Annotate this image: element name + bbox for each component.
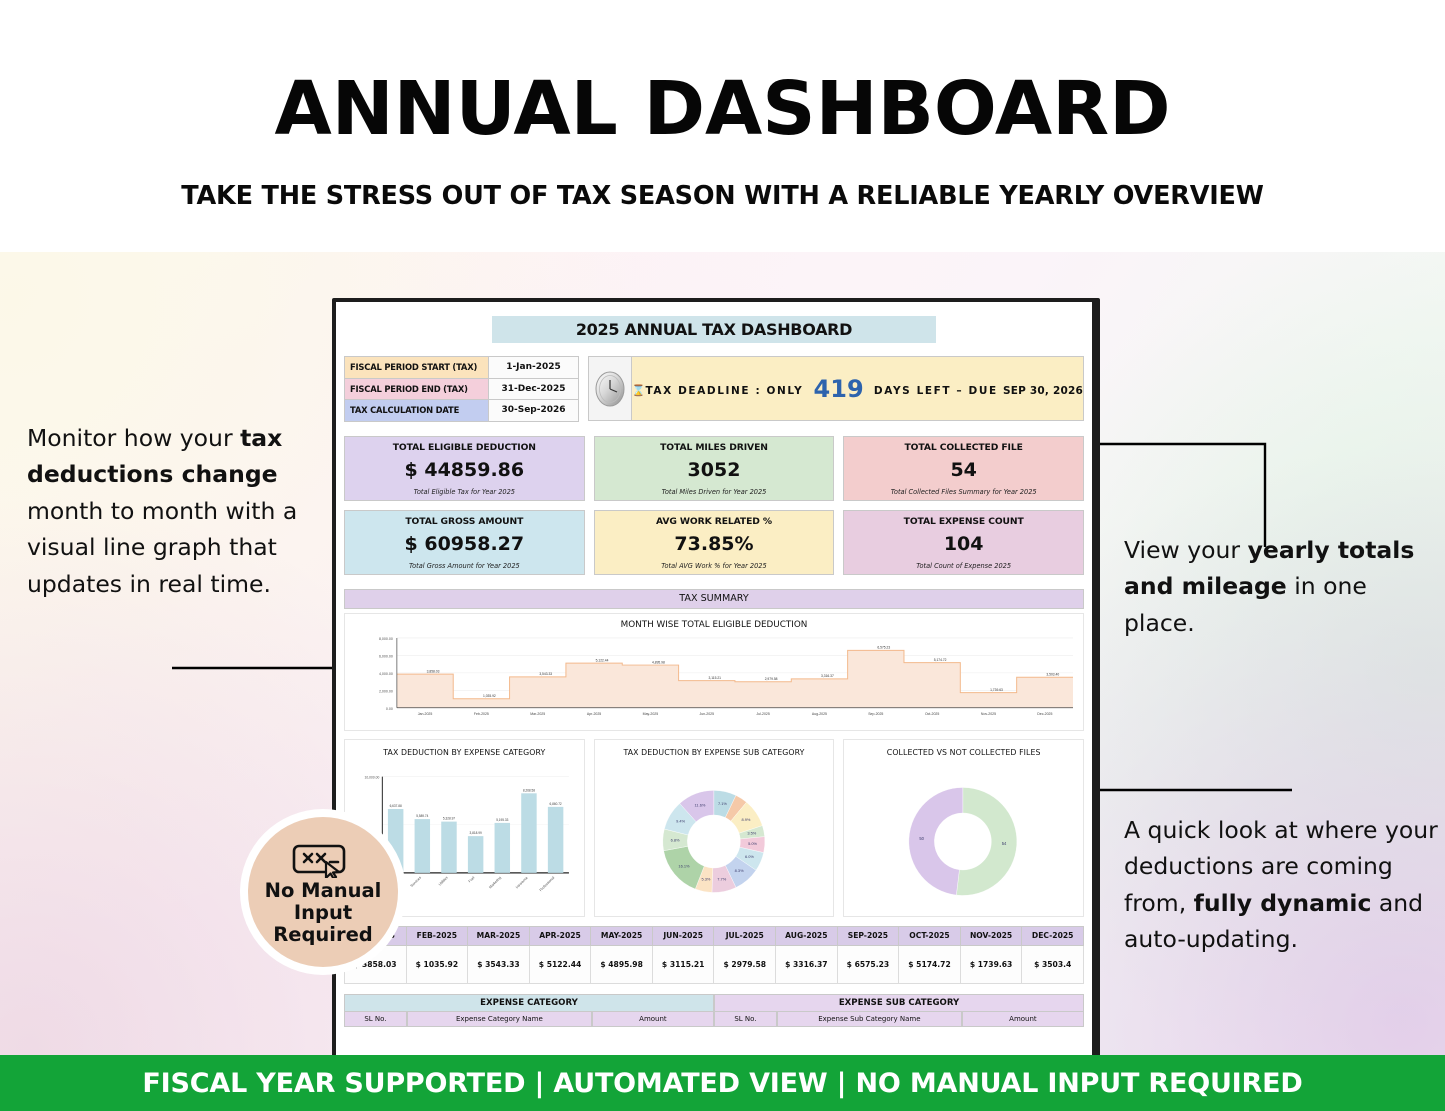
tax-calc-date-label: TAX CALCULATION DATE <box>345 400 489 422</box>
donut-label: 7.7% <box>717 876 726 881</box>
svg-text:6,637.88: 6,637.88 <box>390 804 402 808</box>
svg-text:6,860.72: 6,860.72 <box>550 801 562 805</box>
dashboard-title: 2025 ANNUAL TAX DASHBOARD <box>576 320 852 339</box>
annotation-right-top: View your yearly totals and mileage in o… <box>1124 532 1424 641</box>
svg-text:5,122.44: 5,122.44 <box>596 658 609 662</box>
month-value-10: $ 1739.63 <box>960 945 1022 983</box>
svg-text:10,000.00: 10,000.00 <box>365 775 380 779</box>
svg-text:5,589.74: 5,589.74 <box>416 814 428 818</box>
svg-text:Insurance: Insurance <box>515 875 529 889</box>
svg-text:Mar-2025: Mar-2025 <box>530 711 545 715</box>
col-amount: Amount <box>592 1012 714 1027</box>
deadline-text-cell: ⌛TAX DEADLINE : ONLY 419 DAYS LEFT – DUE… <box>632 356 1084 421</box>
svg-text:6,000.00: 6,000.00 <box>379 654 393 658</box>
svg-text:0.00: 0.00 <box>386 706 393 710</box>
donut-slice-1 <box>909 787 963 895</box>
svg-text:3,543.33: 3,543.33 <box>539 672 552 676</box>
donut-label: 6.0% <box>745 854 754 859</box>
month-value-7: $ 3316.37 <box>776 945 838 983</box>
donut-label: 5.3% <box>701 876 710 881</box>
svg-text:Professional: Professional <box>539 875 556 892</box>
fiscal-period-table: FISCAL PERIOD START (TAX) 1-Jan-2025 FIS… <box>344 356 579 422</box>
svg-text:Fuel: Fuel <box>468 875 476 883</box>
table-header-row: JAN-2025FEB-2025MAR-2025APR-2025MAY-2025… <box>345 926 1084 945</box>
fiscal-deadline-row: FISCAL PERIOD START (TAX) 1-Jan-2025 FIS… <box>344 356 1084 422</box>
svg-text:3,316.37: 3,316.37 <box>821 674 834 678</box>
page-footer: FISCAL YEAR SUPPORTED | AUTOMATED VIEW |… <box>0 1055 1445 1111</box>
kpi-card-total-eligible-deduction: TOTAL ELIGIBLE DEDUCTION $ 44859.86 Tota… <box>344 436 585 501</box>
svg-text:Apr-2025: Apr-2025 <box>587 711 601 715</box>
footer-text: FISCAL YEAR SUPPORTED | AUTOMATED VIEW |… <box>142 1068 1302 1099</box>
kpi-subtitle: Total Miles Driven for Year 2025 <box>662 488 767 496</box>
table-row: FISCAL PERIOD START (TAX) 1-Jan-2025 <box>345 357 579 379</box>
month-header-9: OCT-2025 <box>899 926 961 945</box>
svg-text:3,503.40: 3,503.40 <box>1046 672 1059 676</box>
category-tables: EXPENSE CATEGORY SL No. Expense Category… <box>344 994 1084 1027</box>
fiscal-end-label: FISCAL PERIOD END (TAX) <box>345 378 489 400</box>
svg-text:8,000.00: 8,000.00 <box>379 636 393 640</box>
deadline-due-date: SEP 30, 2026 <box>1003 385 1083 397</box>
kpi-subtitle: Total Gross Amount for Year 2025 <box>409 562 520 570</box>
kpi-title: AVG WORK RELATED % <box>656 516 772 527</box>
kpi-subtitle: Total Count of Expense 2025 <box>916 562 1011 570</box>
tax-summary-bar: TAX SUMMARY <box>344 589 1084 609</box>
annotation-right-bottom: A quick look at where your deductions ar… <box>1124 812 1439 958</box>
donut-label: 11.6% <box>694 802 705 807</box>
svg-text:Marketing: Marketing <box>488 875 502 889</box>
page-header: ANNUAL DASHBOARD TAKE THE STRESS OUT OF … <box>0 0 1445 252</box>
svg-text:Sep-2025: Sep-2025 <box>868 711 883 715</box>
svg-text:Oct-2025: Oct-2025 <box>925 711 939 715</box>
month-header-11: DEC-2025 <box>1022 926 1084 945</box>
donut-label: 5.0% <box>748 841 757 846</box>
month-header-7: AUG-2025 <box>776 926 838 945</box>
dashboard-title-bar: 2025 ANNUAL TAX DASHBOARD <box>492 316 936 343</box>
kpi-card-total-gross-amount: TOTAL GROSS AMOUNT $ 60958.27 Total Gros… <box>344 510 585 575</box>
donut-label: 3.5% <box>747 830 756 835</box>
kpi-value: 73.85% <box>674 533 753 555</box>
svg-text:2,979.58: 2,979.58 <box>765 676 778 680</box>
monthly-deduction-table: JAN-2025FEB-2025MAR-2025APR-2025MAY-2025… <box>344 926 1084 984</box>
kpi-title: TOTAL EXPENSE COUNT <box>904 516 1024 527</box>
svg-text:3,858.03: 3,858.03 <box>427 669 440 673</box>
donut-label: 9.4% <box>676 818 685 823</box>
annotation-rb-bold: fully dynamic <box>1194 889 1372 917</box>
month-header-2: MAR-2025 <box>468 926 530 945</box>
svg-text:5,174.72: 5,174.72 <box>934 657 947 661</box>
bar-chart-title: TAX DEDUCTION BY EXPENSE CATEGORY <box>345 740 584 757</box>
table-row: $ 3858.03$ 1035.92$ 3543.33$ 5122.44$ 48… <box>345 945 1084 983</box>
deadline-suffix: DAYS LEFT – DUE <box>874 385 998 397</box>
donut-label: 16.1% <box>678 863 690 868</box>
collected-donut-title: COLLECTED VS NOT COLLECTED FILES <box>844 740 1083 757</box>
kpi-value: 104 <box>944 533 984 555</box>
svg-text:Jan-2025: Jan-2025 <box>418 711 433 715</box>
svg-text:May-2025: May-2025 <box>643 711 659 715</box>
month-value-1: $ 1035.92 <box>406 945 468 983</box>
annotation-rt-part1: View your <box>1124 536 1248 564</box>
expense-sub-category-donut-chart: TAX DEDUCTION BY EXPENSE SUB CATEGORY 7.… <box>594 739 835 917</box>
clock-icon-cell <box>588 356 632 421</box>
expense-category-table: EXPENSE CATEGORY SL No. Expense Category… <box>344 994 714 1027</box>
donut-label: 54 <box>1002 841 1007 846</box>
kpi-title: TOTAL MILES DRIVEN <box>660 442 768 453</box>
kpi-subtitle: Total Eligible Tax for Year 2025 <box>414 488 515 496</box>
kpi-card-total-expense-count: TOTAL EXPENSE COUNT 104 Total Count of E… <box>843 510 1084 575</box>
donut-label: 6.8% <box>670 837 679 842</box>
month-header-4: MAY-2025 <box>591 926 653 945</box>
collected-files-donut-chart: COLLECTED VS NOT COLLECTED FILES 5450 <box>843 739 1084 917</box>
kpi-card-avg-work-related: AVG WORK RELATED % 73.85% Total AVG Work… <box>594 510 835 575</box>
badge-line-3: Required <box>273 923 373 946</box>
svg-text:Jun-2025: Jun-2025 <box>700 711 715 715</box>
badge-line-1: No Manual <box>265 879 382 902</box>
svg-text:Services: Services <box>410 875 423 888</box>
kpi-value: 54 <box>950 459 976 481</box>
kpi-title: TOTAL ELIGIBLE DEDUCTION <box>393 442 536 453</box>
svg-text:Jul-2025: Jul-2025 <box>756 711 769 715</box>
svg-text:6,575.23: 6,575.23 <box>877 645 890 649</box>
month-header-10: NOV-2025 <box>960 926 1022 945</box>
hourglass-icon: ⌛ <box>632 384 646 397</box>
expense-sub-category-table: EXPENSE SUB CATEGORY SL No. Expense Sub … <box>714 994 1084 1027</box>
svg-text:1,035.92: 1,035.92 <box>483 693 496 697</box>
svg-text:Utilities: Utilities <box>438 875 449 886</box>
kpi-card-total-miles-driven: TOTAL MILES DRIVEN 3052 Total Miles Driv… <box>594 436 835 501</box>
svg-text:2,000.00: 2,000.00 <box>379 689 393 693</box>
sub-category-donut-svg: 7.1%8.9%3.5%5.0%6.0%8.3%7.7%5.3%16.1%6.8… <box>595 757 834 914</box>
col-sl-no: SL No. <box>344 1012 407 1027</box>
annotation-left-part2: month to month with a visual line graph … <box>27 497 297 598</box>
svg-text:4,895.98: 4,895.98 <box>652 660 665 664</box>
clock-icon <box>593 367 627 411</box>
kpi-title: TOTAL GROSS AMOUNT <box>405 516 523 527</box>
month-value-4: $ 4895.98 <box>591 945 653 983</box>
table-row: TAX CALCULATION DATE 30-Sep-2026 <box>345 400 579 422</box>
svg-text:8,268.58: 8,268.58 <box>523 788 535 792</box>
line-chart-svg: 0.002,000.004,000.006,000.008,000.003,85… <box>345 630 1083 726</box>
month-value-3: $ 5122.44 <box>529 945 591 983</box>
tax-deadline-banner: ⌛TAX DEADLINE : ONLY 419 DAYS LEFT – DUE… <box>588 356 1084 421</box>
kpi-value: $ 60958.27 <box>405 533 525 555</box>
svg-text:Feb-2025: Feb-2025 <box>474 711 489 715</box>
donut-slice-0 <box>957 787 1018 895</box>
promo-page: ANNUAL DASHBOARD TAKE THE STRESS OUT OF … <box>0 0 1445 1111</box>
badge-line-2: Input <box>294 901 352 924</box>
svg-text:3,115.21: 3,115.21 <box>708 675 721 679</box>
svg-text:Dec-2025: Dec-2025 <box>1037 711 1052 715</box>
svg-text:Aug-2025: Aug-2025 <box>812 711 827 715</box>
keyboard-no-input-icon <box>292 844 354 878</box>
month-value-2: $ 3543.33 <box>468 945 530 983</box>
page-title: ANNUAL DASHBOARD <box>0 0 1445 146</box>
col-amount: Amount <box>962 1012 1084 1027</box>
expense-sub-category-header: EXPENSE SUB CATEGORY <box>714 994 1084 1012</box>
month-header-1: FEB-2025 <box>406 926 468 945</box>
kpi-subtitle: Total Collected Files Summary for Year 2… <box>891 488 1037 496</box>
kpi-subtitle: Total AVG Work % for Year 2025 <box>661 562 766 570</box>
donut-label: 7.1% <box>718 800 727 805</box>
donut-label: 50 <box>920 836 925 841</box>
sub-category-donut-title: TAX DEDUCTION BY EXPENSE SUB CATEGORY <box>595 740 834 757</box>
deadline-prefix: TAX DEADLINE : ONLY <box>645 385 803 397</box>
page-subtitle: TAKE THE STRESS OUT OF TAX SEASON WITH A… <box>0 146 1445 211</box>
month-value-11: $ 3503.4 <box>1022 945 1084 983</box>
annotation-left: Monitor how your tax deductions change m… <box>27 420 317 602</box>
deadline-days: 419 <box>809 375 869 403</box>
month-header-3: APR-2025 <box>529 926 591 945</box>
month-wise-deduction-chart: MONTH WISE TOTAL ELIGIBLE DEDUCTION 0.00… <box>344 613 1084 731</box>
tax-summary-label: TAX SUMMARY <box>679 593 748 604</box>
month-value-5: $ 3115.21 <box>652 945 714 983</box>
svg-text:3,818.99: 3,818.99 <box>470 831 482 835</box>
kpi-value: 3052 <box>688 459 741 481</box>
kpi-grid: TOTAL ELIGIBLE DEDUCTION $ 44859.86 Tota… <box>344 436 1084 575</box>
month-value-9: $ 5174.72 <box>899 945 961 983</box>
donut-label: 8.3% <box>734 868 743 873</box>
svg-text:4,000.00: 4,000.00 <box>379 671 393 675</box>
col-sl-no: SL No. <box>714 1012 777 1027</box>
tax-calc-date-value[interactable]: 30-Sep-2026 <box>489 400 579 422</box>
table-row: FISCAL PERIOD END (TAX) 31-Dec-2025 <box>345 378 579 400</box>
col-sub-category-name: Expense Sub Category Name <box>777 1012 962 1027</box>
expense-category-header: EXPENSE CATEGORY <box>344 994 714 1012</box>
fiscal-start-value[interactable]: 1-Jan-2025 <box>489 357 579 379</box>
svg-text:1,739.63: 1,739.63 <box>990 687 1003 691</box>
svg-text:5,328.97: 5,328.97 <box>443 816 455 820</box>
month-header-8: SEP-2025 <box>837 926 899 945</box>
no-manual-input-badge: No Manual Input Required <box>240 809 406 975</box>
kpi-card-total-collected-file: TOTAL COLLECTED FILE 54 Total Collected … <box>843 436 1084 501</box>
month-value-8: $ 6575.23 <box>837 945 899 983</box>
fiscal-start-label: FISCAL PERIOD START (TAX) <box>345 357 489 379</box>
month-value-6: $ 2979.58 <box>714 945 776 983</box>
month-header-5: JUN-2025 <box>652 926 714 945</box>
line-chart-title: MONTH WISE TOTAL ELIGIBLE DEDUCTION <box>345 614 1083 630</box>
kpi-value: $ 44859.86 <box>405 459 525 481</box>
spreadsheet-dashboard[interactable]: 2025 ANNUAL TAX DASHBOARD FISCAL PERIOD … <box>336 302 1092 1067</box>
donut-label: 8.9% <box>741 816 750 821</box>
svg-text:Nov-2025: Nov-2025 <box>981 711 996 715</box>
charts-row: TAX DEDUCTION BY EXPENSE CATEGORY 10,000… <box>344 739 1084 917</box>
annotation-left-part1: Monitor how your <box>27 424 240 452</box>
kpi-title: TOTAL COLLECTED FILE <box>905 442 1023 453</box>
month-header-6: JUL-2025 <box>714 926 776 945</box>
fiscal-end-value[interactable]: 31-Dec-2025 <box>489 378 579 400</box>
collected-donut-svg: 5450 <box>844 757 1083 914</box>
svg-text:5,195.33: 5,195.33 <box>496 817 508 821</box>
col-category-name: Expense Category Name <box>407 1012 592 1027</box>
